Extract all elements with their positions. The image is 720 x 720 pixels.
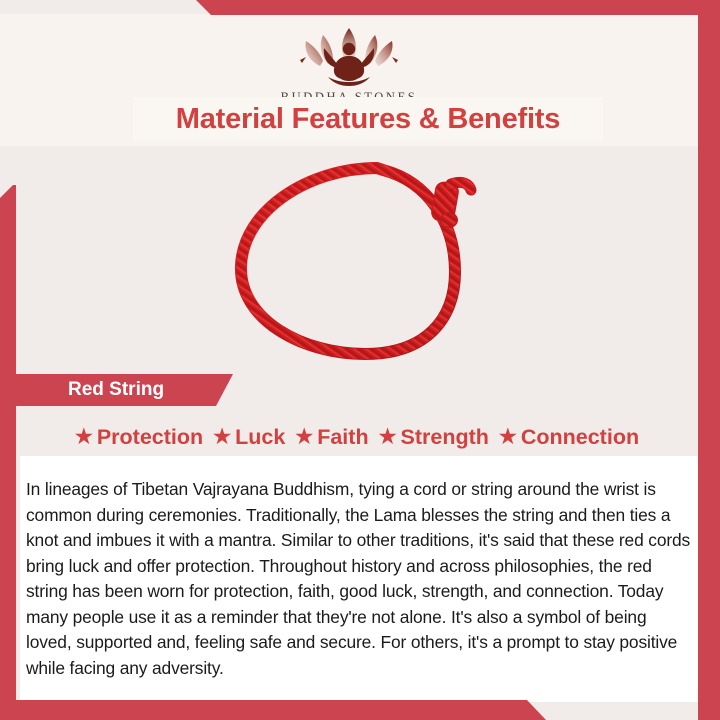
benefit-label: Luck	[235, 425, 285, 450]
page-title: Material Features & Benefits	[176, 103, 560, 136]
benefit-item: ★ Protection	[75, 425, 203, 450]
benefits-row: ★ Protection ★ Luck ★ Faith ★ Strength ★…	[16, 418, 698, 456]
star-icon: ★	[295, 427, 313, 447]
product-label-banner: Red String	[16, 374, 233, 406]
benefit-label: Faith	[317, 425, 368, 450]
benefit-item: ★ Connection	[499, 425, 639, 450]
infographic-page: BUDDHA STONES Material Features & Benefi…	[0, 0, 720, 720]
benefit-item: ★ Strength	[379, 425, 489, 450]
left-accent-bar	[0, 185, 16, 700]
bottom-accent-bar	[0, 700, 720, 720]
description-text: In lineages of Tibetan Vajrayana Buddhis…	[26, 477, 692, 681]
brand-logo: BUDDHA STONES	[0, 20, 698, 105]
benefit-label: Strength	[401, 425, 489, 450]
product-label: Red String	[68, 379, 164, 401]
benefit-label: Protection	[97, 425, 203, 450]
benefit-item: ★ Faith	[295, 425, 368, 450]
title-banner: Material Features & Benefits	[133, 97, 603, 141]
top-accent-bar	[0, 0, 720, 15]
star-icon: ★	[379, 427, 397, 447]
lotus-meditation-icon	[290, 20, 408, 88]
star-icon: ★	[499, 427, 517, 447]
benefit-label: Connection	[521, 425, 639, 450]
right-accent-bar	[698, 0, 720, 720]
description-card: In lineages of Tibetan Vajrayana Buddhis…	[20, 456, 698, 702]
product-image	[16, 146, 698, 371]
benefit-item: ★ Luck	[213, 425, 285, 450]
star-icon: ★	[213, 427, 231, 447]
star-icon: ★	[75, 427, 93, 447]
red-string-bracelet-illustration	[217, 154, 497, 366]
